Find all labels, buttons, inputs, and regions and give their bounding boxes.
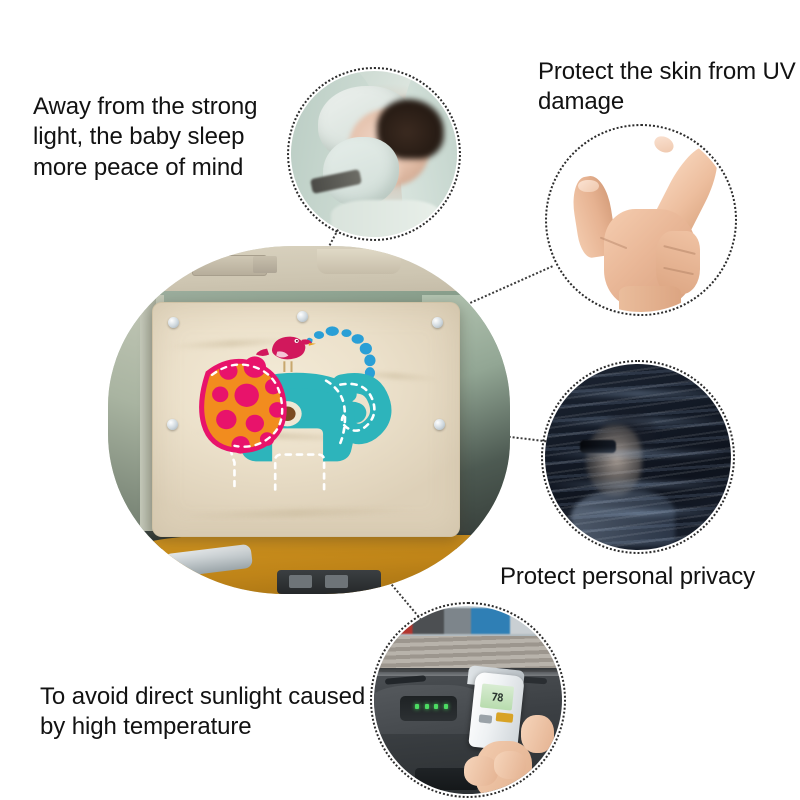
finger [521, 715, 555, 753]
finger [464, 756, 498, 786]
window-reflection [545, 509, 731, 516]
dashboard-led [415, 704, 419, 709]
caption-privacy: Protect personal privacy [500, 562, 790, 592]
roof-control-button [253, 256, 277, 273]
folded-fingers [656, 231, 700, 294]
elephant-bird-artwork [153, 303, 459, 536]
window-reflection [545, 450, 731, 457]
thermometer-lcd-screen: 78 [480, 683, 514, 711]
passenger-shoulder [571, 490, 675, 546]
caption-uv-protection: Protect the skin from UV damage [538, 57, 796, 118]
tinted-window-scene [545, 364, 731, 550]
baby-asleep-callout[interactable] [291, 71, 457, 237]
storefront-background [393, 608, 543, 634]
product-hero-photo[interactable] [108, 246, 510, 594]
wrist [619, 286, 682, 312]
grab-handle [317, 249, 401, 273]
dashboard-led [425, 704, 429, 709]
privacy-callout[interactable] [545, 364, 731, 550]
thumbnail [578, 180, 598, 193]
baby-pillow [323, 137, 399, 207]
thermometer-reading: 78 [491, 690, 504, 704]
window-reflection [545, 481, 731, 488]
dashboard-led [444, 704, 448, 709]
pointing-hand [549, 128, 733, 312]
sunshade-fabric [152, 302, 460, 537]
car-seat-scene [291, 71, 457, 237]
caption-baby-sleep: Away from the strong light, the baby sle… [33, 92, 295, 183]
window-control-switches [277, 570, 382, 594]
uv-skin-callout[interactable] [549, 128, 733, 312]
finger [494, 751, 526, 779]
infographic-stage: Away from the strong light, the baby sle… [0, 0, 800, 800]
thermometer-button [479, 714, 493, 723]
caption-high-temperature: To avoid direct sunlight caused by high … [40, 682, 370, 743]
dashboard-led [434, 704, 438, 709]
baby-body [331, 200, 441, 237]
infrared-thermometer [468, 671, 524, 751]
window-reflection [545, 390, 731, 397]
road-surface [374, 636, 562, 672]
temperature-callout[interactable]: 78 [374, 606, 562, 794]
index-fingernail [652, 133, 677, 155]
elephant-ear [202, 356, 286, 453]
